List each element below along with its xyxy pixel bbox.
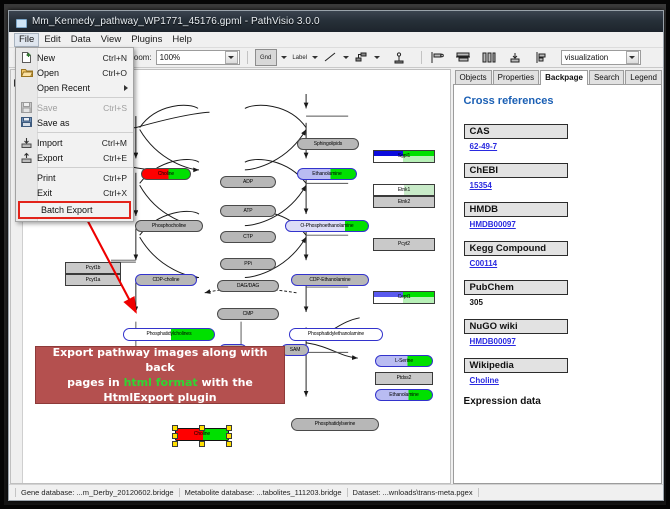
selection-handle[interactable] xyxy=(172,441,178,447)
xref-link[interactable]: HMDB00097 xyxy=(470,220,516,229)
pathvisio-application-window: Mm_Kennedy_pathway_WP1771_45176.gpml - P… xyxy=(8,10,664,501)
file-menu-separator-3 xyxy=(37,167,133,168)
pathway-node-sam[interactable]: SAM xyxy=(281,344,309,356)
file-menu-item-new[interactable]: New Ctrl+N xyxy=(16,50,133,65)
node-label: CMP xyxy=(243,312,254,317)
pathway-gene-cept1[interactable]: Cept1 xyxy=(373,291,435,304)
xref-source-label: PubChem xyxy=(464,280,568,295)
tab-properties[interactable]: Properties xyxy=(493,70,539,84)
node-label: Phosphatidylethanolamine xyxy=(308,332,364,337)
node-label: Ptdss2 xyxy=(397,376,412,381)
menu-plugins[interactable]: Plugins xyxy=(126,33,167,47)
pathway-node-cmp[interactable]: CMP xyxy=(217,308,279,320)
xref-source-label: Wikipedia xyxy=(464,358,568,373)
annotation-line-2a: pages in xyxy=(67,376,123,389)
pathway-gene-etnk1[interactable]: Etnk1 xyxy=(373,184,435,196)
tab-backpage[interactable]: Backpage xyxy=(540,70,588,85)
pathway-node-o-phosphoethanolamine[interactable]: O-Phosphoethanolamine xyxy=(285,220,369,232)
node-label: Pcyt2 xyxy=(398,242,410,247)
file-menu-label-exit: Exit xyxy=(37,188,103,198)
backpage-content: Cross references CAS 62-49-7 ChEBI 15354… xyxy=(453,85,662,484)
selection-handle[interactable] xyxy=(226,425,232,431)
selection-handle[interactable] xyxy=(199,425,205,431)
tab-objects[interactable]: Objects xyxy=(455,70,492,84)
xref-link[interactable]: C00114 xyxy=(470,259,498,268)
xref-value[interactable]: HMDB00097 xyxy=(464,334,653,351)
xref-link[interactable]: Choline xyxy=(470,376,499,385)
new-file-icon xyxy=(16,52,37,63)
same-width-button[interactable] xyxy=(507,50,523,65)
file-menu-item-import[interactable]: Import Ctrl+M xyxy=(16,135,133,150)
node-label: Pcyt1a xyxy=(86,278,101,283)
file-menu-label-new: New xyxy=(37,53,103,63)
pathway-gene-pcyt1a[interactable]: Pcyt1a xyxy=(65,274,121,286)
line-button[interactable] xyxy=(323,50,339,65)
xref-link[interactable]: HMDB00097 xyxy=(470,337,516,346)
node-label: Sphingolipids xyxy=(314,142,342,147)
node-label: Choline xyxy=(194,432,210,437)
file-menu-label-print: Print xyxy=(37,173,103,183)
annotation-line-2c: with the xyxy=(198,376,253,389)
node-label: CTP xyxy=(243,235,253,240)
file-menu-item-save-as[interactable]: Save as xyxy=(16,115,133,130)
chevron-down-icon[interactable] xyxy=(225,51,238,64)
menu-bar: File Edit Data View Plugins Help xyxy=(9,32,663,48)
selection-handle[interactable] xyxy=(199,441,205,447)
save-disk-icon xyxy=(16,102,37,113)
visualization-value: visualization xyxy=(565,53,609,62)
pathvisio-app-icon xyxy=(15,16,27,28)
pathway-node-ethanolamine-right[interactable]: Ethanolamine xyxy=(375,389,433,401)
file-menu-label-save: Save xyxy=(37,103,103,113)
node-label: PPi xyxy=(244,262,251,267)
align-center-button[interactable] xyxy=(455,50,471,65)
node-label: Phosphocholine xyxy=(152,224,186,229)
file-menu-separator-1 xyxy=(37,97,133,98)
side-panel-tabs: Objects Properties Backpage Search Legen… xyxy=(453,69,662,85)
pathway-node-phosphatidylethanolamine[interactable]: Phosphatidylethanolamine xyxy=(289,328,383,341)
anchor-button[interactable] xyxy=(391,50,407,65)
node-label: CDP-Ethanolamine xyxy=(309,278,350,283)
xref-source-label: ChEBI xyxy=(464,163,568,178)
file-menu-shortcut-exit: Ctrl+X xyxy=(103,188,133,198)
pathway-gene-ptdss2[interactable]: Ptdss2 xyxy=(375,372,433,385)
node-label: Etnk2 xyxy=(398,200,410,205)
node-label: Phosphatidylcholines xyxy=(147,332,192,337)
node-label: DAG/DAG xyxy=(237,284,259,289)
xref-value[interactable]: 62-49-7 xyxy=(464,139,653,156)
menu-file[interactable]: File xyxy=(14,33,39,47)
file-menu-label-open-recent: Open Recent xyxy=(37,83,133,93)
node-label: Cept1 xyxy=(398,295,411,300)
file-menu-shortcut-print: Ctrl+P xyxy=(103,173,133,183)
visualization-chevron-down-icon[interactable] xyxy=(626,51,639,64)
tab-legend[interactable]: Legend xyxy=(625,70,662,84)
file-menu-item-exit[interactable]: Exit Ctrl+X xyxy=(16,185,133,200)
pathway-node-cdp-choline[interactable]: CDP-choline xyxy=(135,274,197,286)
xref-value[interactable]: 15354 xyxy=(464,178,653,195)
open-folder-icon xyxy=(16,68,37,78)
node-label: Ethanolamine xyxy=(312,172,341,177)
xref-chebi: ChEBI 15354 xyxy=(464,160,653,195)
file-menu-dropdown[interactable]: New Ctrl+N Open Ctrl+O Open Recent xyxy=(15,47,134,222)
node-label: SAM xyxy=(290,348,301,353)
file-menu-label-batch-export: Batch Export xyxy=(41,205,129,215)
node-label: CDP-choline xyxy=(153,278,180,283)
annotation-callout: Export pathway images along with back pa… xyxy=(35,346,285,404)
node-label: Phosphatidylserine xyxy=(315,422,355,427)
annotation-line-1: Export pathway images along with back xyxy=(53,346,268,374)
datanode-button[interactable]: Gnd xyxy=(255,49,277,66)
label-button[interactable]: Label xyxy=(292,50,308,65)
file-menu-shortcut-import: Ctrl+M xyxy=(102,138,133,148)
label-chevron-down-icon[interactable] xyxy=(312,54,319,61)
pathway-node-ethanolamine-top[interactable]: Ethanolamine xyxy=(297,168,357,180)
title-bar: Mm_Kennedy_pathway_WP1771_45176.gpml - P… xyxy=(9,11,663,32)
datanode-chevron-down-icon[interactable] xyxy=(281,54,288,61)
file-menu-label-open: Open xyxy=(37,68,102,78)
file-menu-separator-2 xyxy=(37,132,133,133)
file-menu-item-batch-export[interactable]: Batch Export xyxy=(18,201,131,219)
pathway-node-dag[interactable]: DAG/DAG xyxy=(217,280,279,292)
node-label: Choline xyxy=(158,172,174,177)
expression-data-heading: Expression data xyxy=(464,396,653,407)
file-menu-item-print[interactable]: Print Ctrl+P xyxy=(16,170,133,185)
pathway-node-ctp[interactable]: CTP xyxy=(220,231,276,243)
zoom-combobox[interactable]: 100% xyxy=(156,50,240,65)
import-icon xyxy=(16,137,37,148)
selection-handle[interactable] xyxy=(226,441,232,447)
selection-handle[interactable] xyxy=(226,433,232,439)
file-menu-shortcut-open: Ctrl+O xyxy=(102,68,133,78)
pathway-gene-sgpl1[interactable]: Sgpl1 xyxy=(373,150,435,163)
xref-nugo-wiki: NuGO wiki HMDB00097 xyxy=(464,316,653,351)
pathway-node-phosphocholine[interactable]: Phosphocholine xyxy=(135,220,203,232)
status-dataset: Dataset: ...wnloads\trans-meta.pgex xyxy=(348,488,479,497)
xref-source-label: NuGO wiki xyxy=(464,319,568,334)
distribute-button[interactable] xyxy=(481,50,497,65)
xref-cas: CAS 62-49-7 xyxy=(464,121,653,156)
pathway-node-phosphatidylserine[interactable]: Phosphatidylserine xyxy=(291,418,379,431)
zoom-value: 100% xyxy=(160,53,180,62)
save-as-icon xyxy=(16,117,37,128)
xref-source-label: Kegg Compound xyxy=(464,241,568,256)
tab-search[interactable]: Search xyxy=(589,70,624,84)
selection-handle[interactable] xyxy=(172,433,178,439)
pathway-node-adp[interactable]: ADP xyxy=(220,176,276,188)
cross-references-heading: Cross references xyxy=(464,95,653,107)
xref-kegg-compound: Kegg Compound C00114 xyxy=(464,238,653,273)
node-label: Ethanolamine xyxy=(389,393,418,398)
node-label: L-Serine xyxy=(395,359,413,364)
xref-hmdb: HMDB HMDB00097 xyxy=(464,199,653,234)
node-label: ADP xyxy=(243,180,253,185)
annotation-line-3: HtmlExport plugin xyxy=(103,391,216,404)
pathway-node-choline[interactable]: Choline xyxy=(141,168,191,180)
file-menu-item-open[interactable]: Open Ctrl+O xyxy=(16,65,133,80)
side-panel: Objects Properties Backpage Search Legen… xyxy=(453,69,662,484)
xref-link[interactable]: 62-49-7 xyxy=(470,142,498,151)
visualization-combobox[interactable]: visualization xyxy=(561,50,641,65)
pathway-node-cdp-ethanolamine[interactable]: CDP-Ethanolamine xyxy=(291,274,369,286)
pathway-node-sphingolipids[interactable]: Sphingolipids xyxy=(297,138,359,150)
xref-value[interactable]: Choline xyxy=(464,373,653,390)
desktop-background: Mm_Kennedy_pathway_WP1771_45176.gpml - P… xyxy=(0,0,670,509)
menu-data[interactable]: Data xyxy=(66,33,96,47)
interaction-chevron-down-icon[interactable] xyxy=(374,54,381,61)
xref-source-label: HMDB xyxy=(464,202,568,217)
selection-handle[interactable] xyxy=(172,425,178,431)
xref-value[interactable]: HMDB00097 xyxy=(464,217,653,234)
file-menu-shortcut-new: Ctrl+N xyxy=(103,53,133,63)
pathway-node-phosphatidylcholines[interactable]: Phosphatidylcholines xyxy=(123,328,215,341)
pathway-gene-pcyt2[interactable]: Pcyt2 xyxy=(373,238,435,251)
xref-pubchem: PubChem 305 xyxy=(464,277,653,312)
status-gene-database: Gene database: ...m_Derby_20120602.bridg… xyxy=(15,488,180,497)
file-menu-item-export[interactable]: Export Ctrl+E xyxy=(16,150,133,165)
pathway-node-atp[interactable]: ATP xyxy=(220,205,276,217)
pathway-node-l-serine[interactable]: L-Serine xyxy=(375,355,433,367)
status-metabolite-database: Metabolite database: ...tabolites_111203… xyxy=(180,488,348,497)
toolbar-separator xyxy=(247,51,248,64)
status-bar: Gene database: ...m_Derby_20120602.bridg… xyxy=(9,484,663,500)
node-label: Etnk1 xyxy=(398,188,410,193)
file-menu-shortcut-export: Ctrl+E xyxy=(103,153,133,163)
submenu-arrow-icon xyxy=(124,85,128,91)
annotation-text: Export pathway images along with back pa… xyxy=(36,345,284,405)
file-menu-shortcut-save: Ctrl+S xyxy=(103,103,133,113)
xref-source-label: CAS xyxy=(464,124,568,139)
menu-edit[interactable]: Edit xyxy=(39,33,65,47)
stack-button[interactable] xyxy=(533,50,549,65)
pathway-gene-etnk2[interactable]: Etnk2 xyxy=(373,196,435,208)
export-icon xyxy=(16,152,37,163)
pathway-gene-pcyt1b[interactable]: Pcyt1b xyxy=(65,262,121,274)
xref-value: 305 xyxy=(464,295,653,312)
align-left-button[interactable] xyxy=(429,50,445,65)
xref-value[interactable]: C00114 xyxy=(464,256,653,273)
node-label: O-Phosphoethanolamine xyxy=(300,224,353,229)
file-menu-label-import: Import xyxy=(37,138,102,148)
file-menu-label-export: Export xyxy=(37,153,103,163)
file-menu-item-save: Save Ctrl+S xyxy=(16,100,133,115)
file-menu-label-save-as: Save as xyxy=(37,118,127,128)
node-label: Pcyt1b xyxy=(86,266,101,271)
file-menu-item-open-recent[interactable]: Open Recent xyxy=(16,80,133,95)
menu-view[interactable]: View xyxy=(96,33,126,47)
interaction-button[interactable] xyxy=(354,50,370,65)
line-chevron-down-icon[interactable] xyxy=(343,54,350,61)
xref-wikipedia: Wikipedia Choline xyxy=(464,355,653,390)
node-label: Sgpl1 xyxy=(398,154,410,159)
node-label: ATP xyxy=(243,209,252,214)
menu-help[interactable]: Help xyxy=(167,33,197,47)
pathway-node-ppi[interactable]: PPi xyxy=(220,258,276,270)
annotation-line-2b: html format xyxy=(124,376,198,389)
xref-link[interactable]: 15354 xyxy=(470,181,492,190)
window-title: Mm_Kennedy_pathway_WP1771_45176.gpml - P… xyxy=(32,16,320,27)
